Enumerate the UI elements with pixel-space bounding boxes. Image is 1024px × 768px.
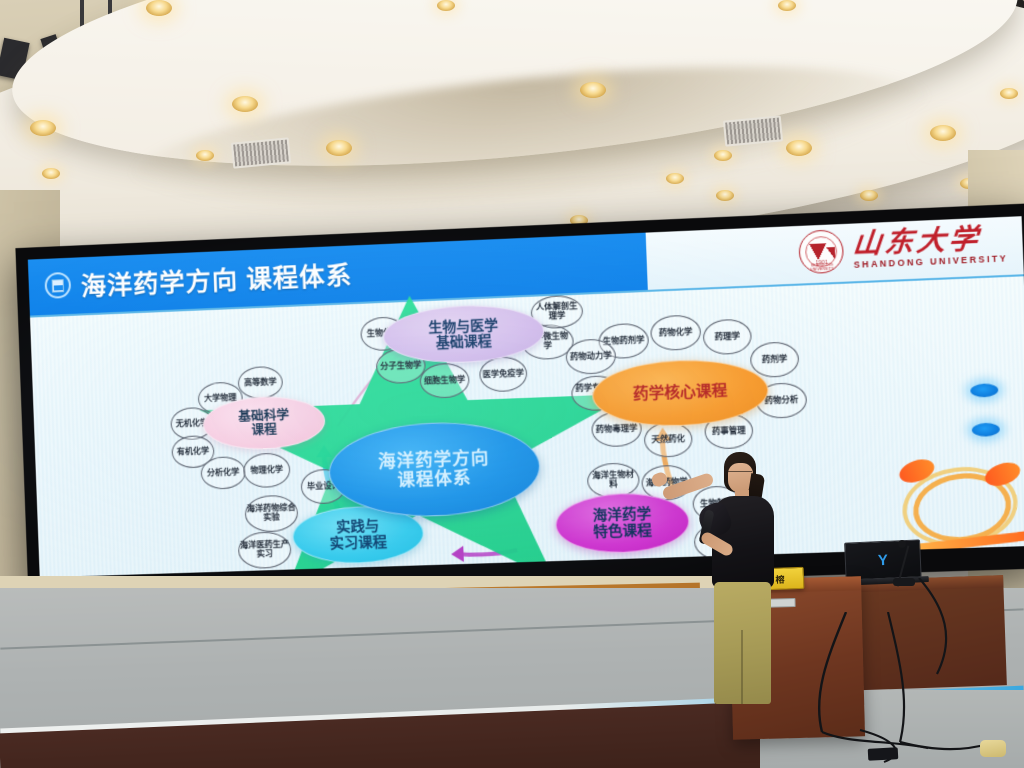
branch-label-line2: 基础课程	[429, 333, 499, 351]
seal-mountain-icon	[809, 243, 835, 261]
presenter-glasses	[728, 471, 752, 477]
branch-label-line1: 基础科学	[238, 408, 289, 424]
power-strip	[868, 747, 899, 761]
ceiling-downlight	[232, 96, 258, 112]
ceiling-downlight	[196, 150, 214, 161]
ceiling-downlight	[580, 82, 606, 98]
university-logo: 1901 SHANDONG UNIVERSITY 山东大学 SHANDONG U…	[798, 222, 1008, 274]
slide-body: 生物化学 分子生物学 细胞生物学 医学免疫学 医学微生物学 人体解剖生理学 高等…	[30, 276, 1024, 577]
ceiling-downlight	[860, 190, 878, 201]
bullet-oval-icon	[970, 383, 998, 398]
course-bubble[interactable]: 药剂学	[750, 341, 800, 378]
gooseneck-mic-head-icon	[898, 540, 906, 548]
bullet-oval-icon	[972, 423, 1000, 437]
ceiling-downlight	[30, 120, 56, 136]
ceiling-downlight	[326, 140, 352, 156]
ceiling-downlight	[437, 0, 455, 11]
ceiling-downlight	[930, 125, 956, 141]
ceiling-downlight	[714, 150, 732, 161]
center-node-line2: 课程体系	[379, 468, 491, 491]
ceiling-air-vent	[231, 137, 291, 168]
slide-canvas: 海洋药学方向 课程体系 1901 SHANDONG UNIVERSITY 山东大…	[28, 216, 1024, 577]
ceiling-downlight	[786, 140, 812, 156]
console-cable	[915, 578, 1024, 678]
ceiling-downlight	[146, 0, 172, 16]
ceiling-air-vent	[723, 115, 783, 146]
seal-ring-text: SHANDONG UNIVERSITY	[801, 262, 844, 272]
plug-bundle	[980, 740, 1006, 757]
university-wordmark: 山东大学 SHANDONG UNIVERSITY	[852, 224, 1008, 270]
center-node-line1: 海洋药学方向	[378, 448, 490, 471]
laptop-screen: Y	[844, 539, 922, 580]
branch-label-line1: 药学核心课程	[633, 383, 728, 404]
branch-label-line2: 特色课程	[593, 522, 652, 540]
gooseneck-mic-base	[893, 578, 915, 586]
lecture-hall-scene: 海洋药学方向 课程体系 1901 SHANDONG UNIVERSITY 山东大…	[0, 0, 1024, 768]
branch-label-line2: 实习课程	[329, 534, 387, 552]
branch-label-line2: 课程	[239, 422, 290, 438]
ceiling-downlight	[1000, 88, 1018, 99]
course-bubble[interactable]: 药物化学	[650, 314, 702, 351]
course-bubble[interactable]: 药理学	[702, 318, 752, 355]
laptop-brand-logo: Y	[877, 551, 888, 568]
ceiling-downlight	[42, 168, 60, 179]
ceiling-downlight	[716, 190, 734, 201]
university-seal-icon: 1901 SHANDONG UNIVERSITY	[798, 229, 844, 274]
ceiling-downlight	[778, 0, 796, 11]
presenter-trouser-seam	[741, 630, 743, 704]
ceiling-downlight	[666, 173, 684, 184]
